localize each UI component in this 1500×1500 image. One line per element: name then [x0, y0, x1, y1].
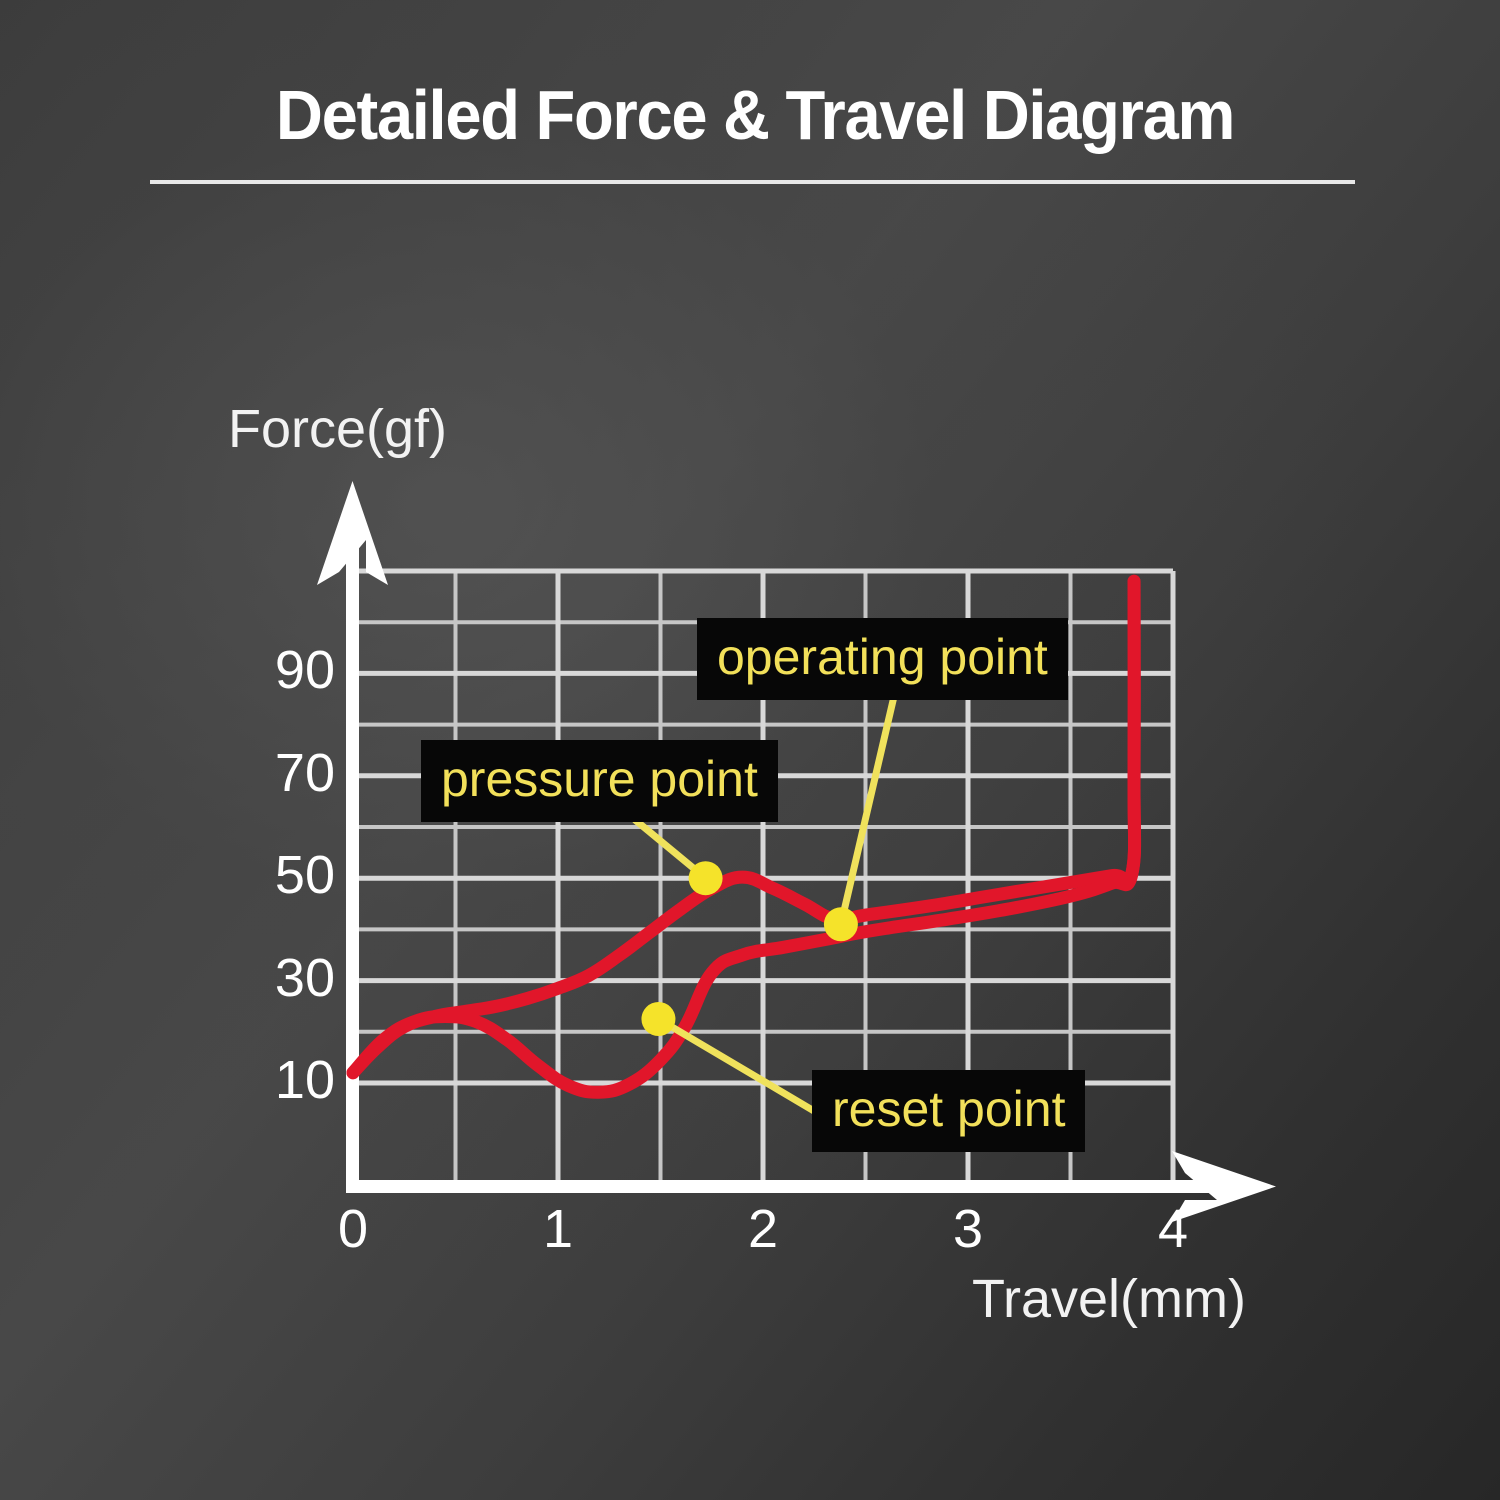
x-tick-label: 1 [518, 1198, 598, 1260]
callout-reset-point: reset point [812, 1070, 1085, 1152]
marker-operating-point [824, 907, 858, 941]
marker-reset-point [641, 1002, 675, 1036]
y-tick-label: 90 [235, 639, 335, 701]
y-tick-label: 30 [235, 947, 335, 1009]
callout-operating-point: operating point [697, 618, 1068, 700]
x-tick-label: 0 [313, 1198, 393, 1260]
y-axis-line [346, 520, 359, 1192]
x-axis-line [346, 1180, 1218, 1193]
x-tick-label: 2 [723, 1198, 803, 1260]
y-tick-label: 50 [235, 844, 335, 906]
x-tick-label: 4 [1133, 1198, 1213, 1260]
callout-pressure-point: pressure point [421, 740, 778, 822]
y-tick-label: 10 [235, 1049, 335, 1111]
y-tick-label: 70 [235, 742, 335, 804]
x-tick-label: 3 [928, 1198, 1008, 1260]
force-travel-diagram-figure: Detailed Force & Travel Diagram Force(gf… [0, 0, 1500, 1500]
marker-pressure-point [689, 861, 723, 895]
